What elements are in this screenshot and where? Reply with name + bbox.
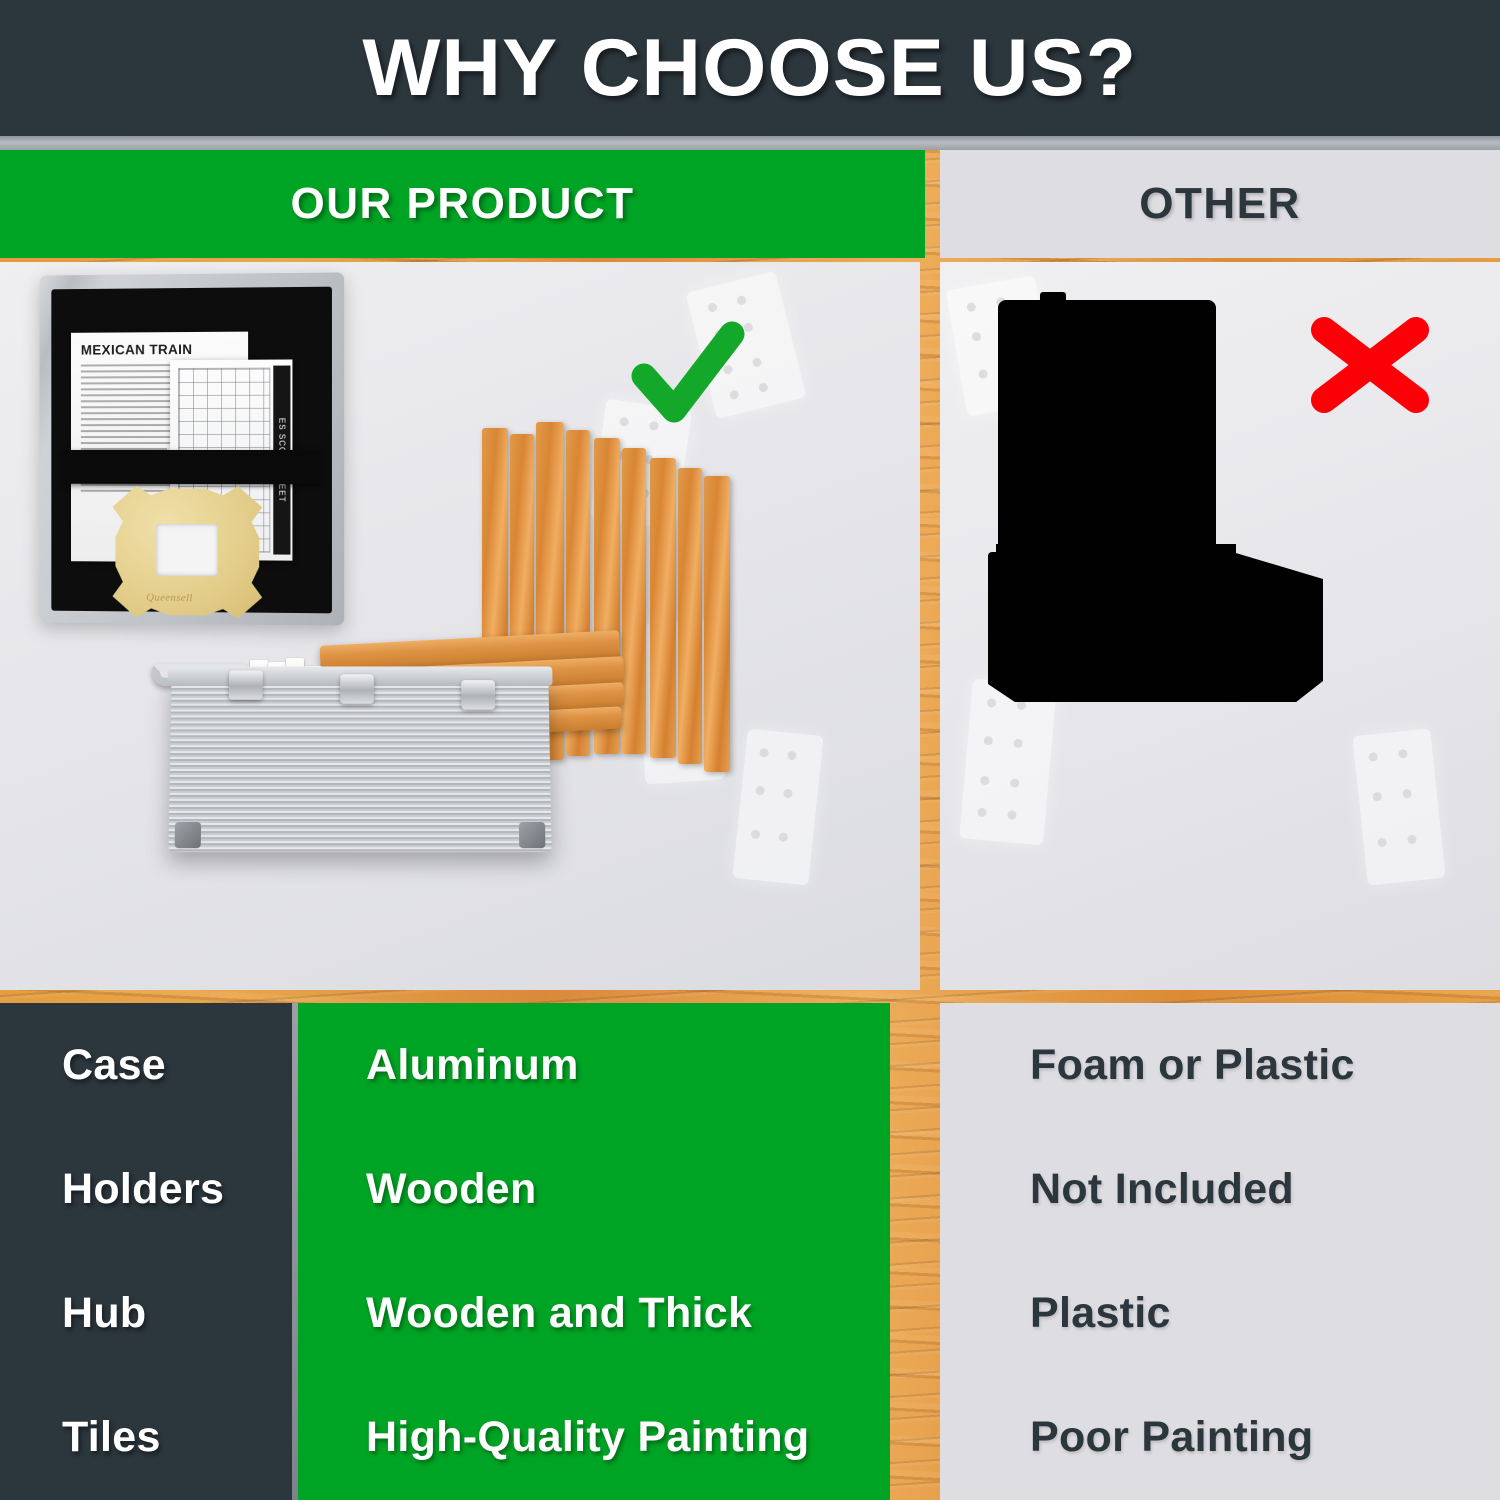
wooden-holder — [622, 448, 646, 754]
table-row: Poor Painting — [940, 1376, 1500, 1500]
case-lid: MEXICAN TRAIN ES SCOR — [40, 272, 345, 625]
table-row: Foam or Plastic — [940, 1003, 1500, 1127]
column-header-our-product-label: OUR PRODUCT — [290, 179, 634, 229]
wooden-holder — [704, 476, 730, 772]
case-body — [168, 678, 551, 852]
other-value: Plastic — [1030, 1289, 1171, 1338]
wooden-hub: Queensell — [112, 486, 262, 619]
wooden-holder — [650, 458, 676, 758]
other-case-lid — [998, 300, 1216, 558]
other-value: Foam or Plastic — [1030, 1041, 1355, 1090]
column-header-other-label: OTHER — [1139, 179, 1301, 229]
table-row: Aluminum — [298, 1003, 890, 1127]
header-divider — [0, 136, 1500, 150]
ours-value: Aluminum — [366, 1041, 579, 1090]
green-check-mark-icon — [628, 318, 748, 438]
ours-value: Wooden — [366, 1165, 537, 1214]
case-latch — [340, 674, 374, 703]
feature-label: Case — [62, 1041, 166, 1090]
red-cross-mark-icon — [1300, 310, 1440, 420]
table-row: Wooden — [298, 1127, 890, 1251]
other-case-base — [988, 552, 1323, 702]
column-header-other: OTHER — [940, 150, 1500, 258]
case-latch — [461, 680, 495, 709]
comparison-ours-column: Aluminum Wooden Wooden and Thick High-Qu… — [298, 1003, 890, 1500]
table-row: Plastic — [940, 1252, 1500, 1376]
table-row: Case — [0, 1003, 292, 1127]
comparison-other-column: Foam or Plastic Not Included Plastic Poo… — [940, 1003, 1500, 1500]
product-image-panel-ours: MEXICAN TRAIN ES SCOR — [0, 262, 920, 990]
hub-center-slot — [156, 524, 218, 576]
ours-value: High-Quality Painting — [366, 1413, 809, 1462]
aluminum-case-photo: MEXICAN TRAIN ES SCOR — [0, 262, 920, 990]
table-column-divider — [292, 1003, 298, 1500]
table-row: Tiles — [0, 1376, 292, 1500]
wooden-holder — [678, 468, 702, 764]
table-row: Wooden and Thick — [298, 1252, 890, 1376]
page-title: WHY CHOOSE US? — [363, 22, 1138, 115]
feature-label: Hub — [62, 1289, 147, 1338]
header-bar: WHY CHOOSE US? — [0, 0, 1500, 136]
feature-label: Holders — [62, 1165, 224, 1214]
other-value: Poor Painting — [1030, 1413, 1313, 1462]
case-latch — [229, 670, 263, 699]
infographic-page: WHY CHOOSE US? OUR PRODUCT OTHER — [0, 0, 1500, 1500]
hub-brand-text: Queensell — [146, 592, 193, 604]
case-lid-lining: MEXICAN TRAIN ES SCOR — [51, 287, 332, 614]
column-header-our-product: OUR PRODUCT — [0, 150, 925, 258]
table-row: Holders — [0, 1127, 292, 1251]
feature-label: Tiles — [62, 1413, 161, 1462]
table-row: Not Included — [940, 1127, 1500, 1251]
table-row: Hub — [0, 1252, 292, 1376]
table-row: High-Quality Painting — [298, 1376, 890, 1500]
comparison-feature-column: Case Holders Hub Tiles — [0, 1003, 292, 1500]
rules-booklet-title: MEXICAN TRAIN — [81, 342, 193, 358]
ours-value: Wooden and Thick — [366, 1289, 752, 1338]
case-corner-cap — [175, 822, 202, 848]
other-value: Not Included — [1030, 1165, 1294, 1214]
elastic-strap — [63, 450, 320, 484]
case-corner-cap — [519, 822, 546, 848]
